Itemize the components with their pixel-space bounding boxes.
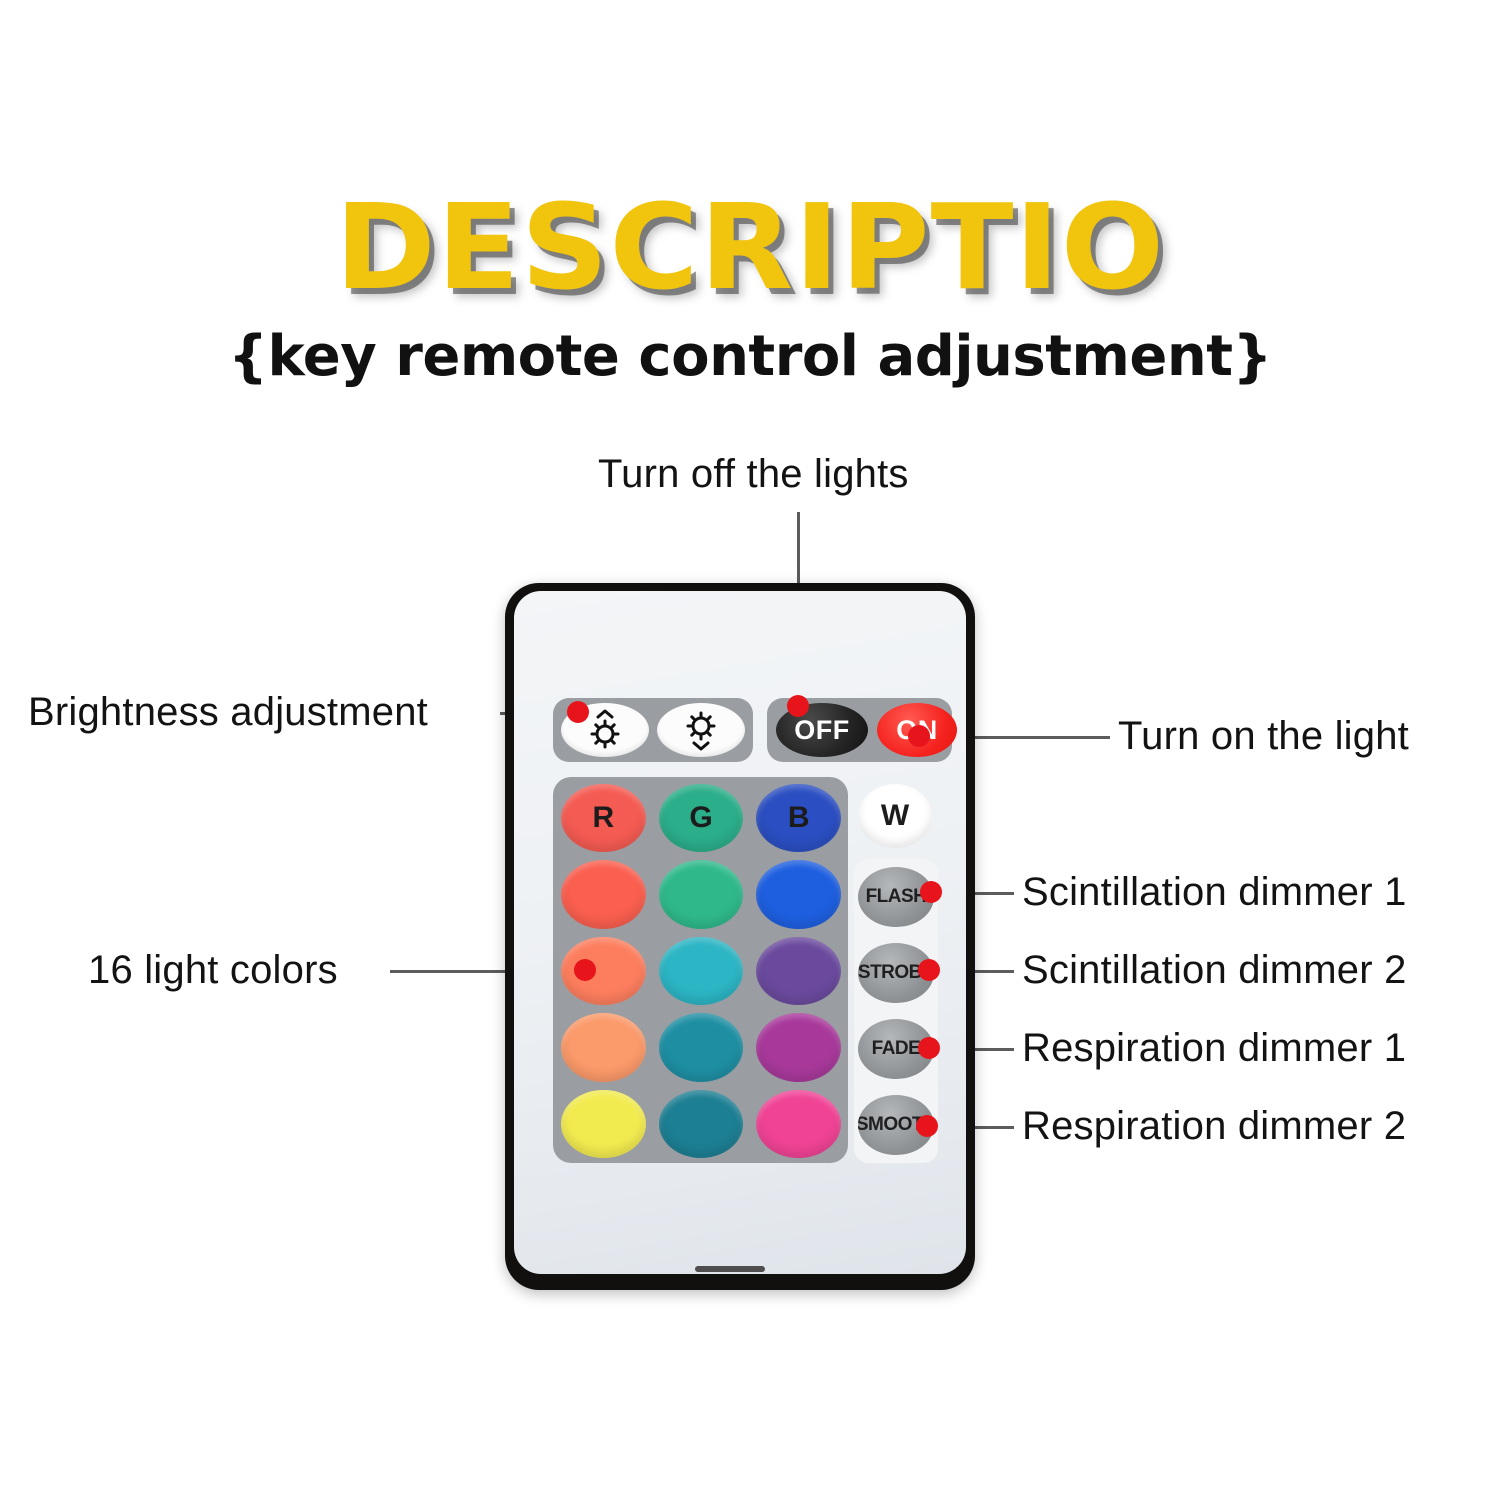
page-title: DESCRIPTIO	[0, 0, 1500, 306]
callout-turn-on-light: Turn on the light	[1118, 714, 1409, 759]
color-button-5[interactable]	[659, 937, 744, 1005]
color-button-b[interactable]: B	[756, 784, 841, 852]
callout-16-light-colors: 16 light colors	[88, 948, 338, 993]
remote-face: OFF ON RGB W FLASH STROBE FADE SMOOTH	[514, 591, 966, 1274]
marker-dot-flash	[920, 881, 942, 903]
callout-respiration-2: Respiration dimmer 2	[1022, 1104, 1406, 1149]
color-button-10[interactable]	[561, 1090, 646, 1158]
color-swatch-grid: RGB	[561, 784, 841, 1158]
marker-dot-off	[787, 695, 809, 717]
color-button-2[interactable]	[659, 860, 744, 928]
callout-respiration-1: Respiration dimmer 1	[1022, 1026, 1406, 1071]
marker-dot-strobe	[918, 959, 940, 981]
color-button-g[interactable]: G	[659, 784, 744, 852]
marker-dot-on	[908, 725, 930, 747]
marker-dot-smooth	[916, 1115, 938, 1137]
color-button-r[interactable]: R	[561, 784, 646, 852]
color-button-9[interactable]	[756, 1013, 841, 1081]
title-block: DESCRIPTIO {key remote control adjustmen…	[0, 0, 1500, 389]
color-button-12[interactable]	[756, 1090, 841, 1158]
color-button-6[interactable]	[756, 937, 841, 1005]
callout-scintillation-1: Scintillation dimmer 1	[1022, 870, 1407, 915]
color-button-8[interactable]	[659, 1013, 744, 1081]
color-button-1[interactable]	[561, 860, 646, 928]
color-button-3[interactable]	[756, 860, 841, 928]
brightness-down-button[interactable]	[657, 703, 745, 757]
brightness-down-icon	[677, 709, 725, 751]
page-subtitle: {key remote control adjustment}	[0, 306, 1500, 389]
marker-dot-fade	[918, 1037, 940, 1059]
remote-control-body: OFF ON RGB W FLASH STROBE FADE SMOOTH	[505, 583, 975, 1290]
callout-turn-off-lights: Turn off the lights	[598, 452, 909, 497]
color-button-7[interactable]	[561, 1013, 646, 1081]
callout-scintillation-2: Scintillation dimmer 2	[1022, 948, 1407, 993]
remote-bottom-notch	[695, 1266, 765, 1272]
marker-dot-colors	[574, 959, 596, 981]
callout-brightness-adjustment: Brightness adjustment	[28, 690, 428, 735]
marker-dot-brightness	[567, 701, 589, 723]
color-button-11[interactable]	[659, 1090, 744, 1158]
white-button[interactable]: W	[858, 784, 932, 848]
